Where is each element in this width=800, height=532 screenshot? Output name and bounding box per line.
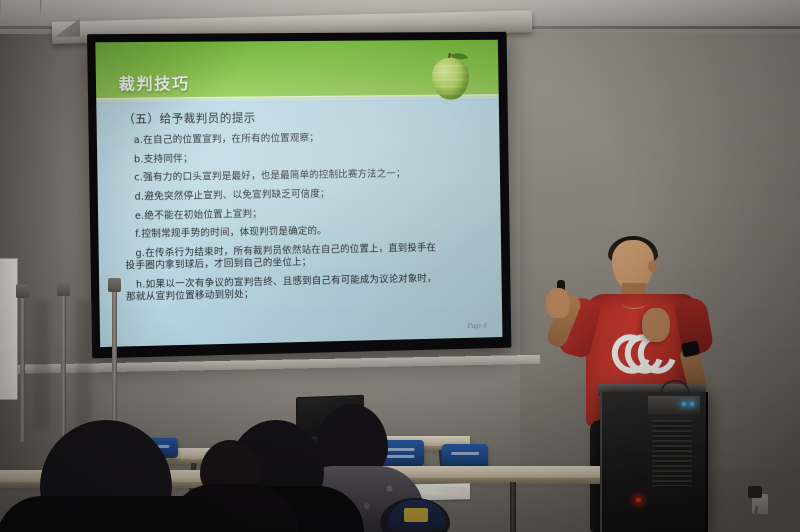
metal-pole-2 [61,290,66,442]
chair-3[interactable] [442,444,488,468]
slide-title: 裁判技巧 [118,70,190,95]
bullet-marker-e: e. [135,210,145,221]
metal-pole-head-1 [16,284,29,298]
presenter-hand-right [642,308,670,342]
slide-bullet-h: h.如果以一次有争议的宣判告终、且感到自己有可能成为议论对象时， 那就从宣判位置… [136,272,486,304]
bullet-text-b: 支持同伴； [144,153,193,165]
presenter-ear [648,260,657,272]
apple-body [432,58,470,100]
av-rack-vent [652,420,692,486]
bullet-text-f: 控制常规手势的时间，体现判罚是确定的。 [141,226,327,240]
bullet-marker-a: a. [134,135,144,146]
slide-subtitle: （五）给予裁判员的提示 [123,107,484,127]
presentation-slide: 裁判技巧 （五）给予裁判员的提示 a.在自己的位置宣判，在所有的位置观察； b.… [95,40,502,347]
slide-bullet-d: d.避免突然停止宣判、以免宣判缺乏可信度； [134,186,484,204]
power-plug [748,486,762,498]
slide-bullet-f: f.控制常规手势的时间，体现判罚是确定的。 [135,223,485,242]
av-rack-led-blue-2 [690,402,694,406]
audience-cap-logo [404,508,428,522]
projection-screen: 裁判技巧 （五）给予裁判员的提示 a.在自己的位置宣判，在所有的位置观察； b.… [87,32,511,359]
bullet-marker-c: c. [134,173,143,184]
slide-bullet-a: a.在自己的位置宣判，在所有的位置观察； [134,131,484,147]
pole-shadow-2 [76,300,92,430]
bullet-text-d: 避免突然停止宣判、以免宣判缺乏可信度； [144,189,330,203]
av-rack-led-blue-1 [682,402,686,406]
bullet-text-e: 绝不能在初始位置上宣判； [144,208,262,221]
chair-2-slot-b [386,455,415,458]
slide-body: （五）给予裁判员的提示 a.在自己的位置宣判，在所有的位置观察； b.支持同伴；… [123,107,486,311]
slide-page-number: Page 8 [467,322,486,330]
chair-3-slot [451,452,479,455]
table-leg-5 [510,482,516,532]
presenter-necklace [622,298,646,309]
metal-pole-head-3 [108,278,121,292]
slide-bullet-c: c.强有力的口头宣判是最好，也是最简单的控制比赛方法之一； [134,168,484,185]
pole-shadow-1 [34,300,50,430]
slide-bullet-e: e.绝不能在初始位置上宣判； [135,205,485,223]
classroom-photo: 裁判技巧 （五）给予裁判员的提示 a.在自己的位置宣判，在所有的位置观察； b.… [0,0,800,532]
green-apple-icon [430,48,472,102]
av-rack-led-red [636,498,641,502]
bullet-text-a: 在自己的位置宣判，在所有的位置观察； [143,133,319,146]
presenter-hand-left [546,288,570,318]
projection-screen-surface: 裁判技巧 （五）给予裁判员的提示 a.在自己的位置宣判，在所有的位置观察； b.… [95,40,502,347]
whiteboard-edge [0,258,18,400]
bullet-text-c: 强有力的口头宣判是最好，也是最简单的控制比赛方法之一； [143,169,406,184]
metal-pole-1 [20,292,25,442]
chair-2-slot [386,448,415,451]
slide-bullet-b: b.支持同伴； [134,149,484,166]
metal-pole-head-2 [57,282,70,296]
slide-bullet-g: g.在传杀行为结束时，所有裁判员依然站在自己的位置上，直到投手在 投手圈内拿到球… [135,241,485,272]
audience-body-1 [0,496,236,532]
